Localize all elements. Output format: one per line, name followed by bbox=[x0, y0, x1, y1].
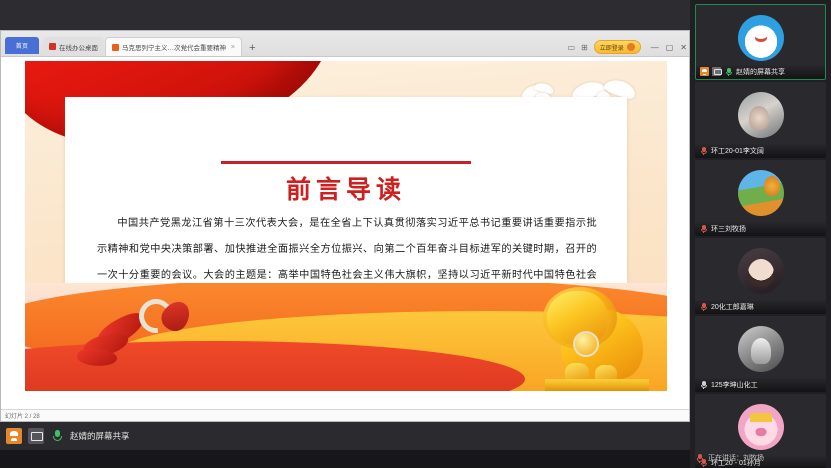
slide-page-indicator: 幻灯片 2 / 28 bbox=[5, 411, 40, 420]
host-icon bbox=[6, 428, 22, 444]
speaking-status-label: 正在讲话：刘牧扬 bbox=[708, 453, 764, 463]
participant-name: 赵婧的屏幕共享 bbox=[736, 67, 785, 77]
tab-close-icon[interactable]: × bbox=[231, 44, 235, 51]
browser-tab-0-label: 在线办公桌面 bbox=[59, 42, 98, 52]
avatar bbox=[738, 248, 784, 294]
page-title: 前言导读 bbox=[25, 170, 667, 206]
microphone-muted-icon bbox=[695, 454, 704, 463]
avatar bbox=[738, 326, 784, 372]
minimize-button[interactable]: — bbox=[651, 43, 659, 52]
screen-share-icon bbox=[712, 67, 721, 76]
speaking-status: 正在讲话：刘牧扬 bbox=[695, 450, 826, 466]
avatar bbox=[738, 15, 784, 61]
participant-tile-footer: 20化工郎嘉琳 bbox=[695, 299, 826, 314]
participant-tile-footer: 125李坤山化工 bbox=[695, 377, 826, 392]
participant-tile[interactable]: 20化工郎嘉琳 bbox=[695, 238, 826, 314]
shared-browser-window: 首页 在线办公桌面 马克思列宁主义…次党代会重要精神 × + ▭ ⊞ 立即登录 bbox=[0, 30, 690, 422]
reading-mode-icon[interactable]: ▭ bbox=[567, 43, 575, 52]
participant-tile-footer: 环工20-01李文阔 bbox=[695, 143, 826, 158]
orange-doc-favicon-icon bbox=[112, 44, 119, 51]
login-button-label: 立即登录 bbox=[600, 43, 624, 52]
participant-rail: 赵婧的屏幕共享 环工20-01李文阔 环三刘牧扬 bbox=[690, 0, 831, 468]
participant-tile[interactable]: 125李坤山化工 bbox=[695, 316, 826, 392]
slide-stage: 前言导读 中国共产党黑龙江省第十三次代表大会，是在全省上下认真贯彻落实习近平总书… bbox=[1, 57, 689, 411]
presentation-slide: 前言导读 中国共产党黑龙江省第十三次代表大会，是在全省上下认真贯彻落实习近平总书… bbox=[25, 61, 667, 391]
slide-status-bar: 幻灯片 2 / 28 bbox=[1, 409, 689, 421]
avatar bbox=[738, 404, 784, 450]
login-button[interactable]: 立即登录 bbox=[594, 40, 641, 54]
home-button-label: 首页 bbox=[16, 41, 28, 50]
browser-toolbar-right: ▭ ⊞ 立即登录 — ▢ ✕ bbox=[567, 40, 687, 54]
participant-tile[interactable]: 环三刘牧扬 bbox=[695, 160, 826, 236]
participant-name: 环工20-01李文阔 bbox=[711, 146, 764, 156]
screen-share-bar: 赵婧的屏幕共享 bbox=[0, 422, 690, 450]
microphone-muted-icon bbox=[699, 302, 708, 311]
microphone-muted-icon bbox=[699, 224, 708, 233]
new-tab-button[interactable]: + bbox=[243, 43, 261, 56]
screen-share-label: 赵婧的屏幕共享 bbox=[70, 430, 130, 442]
browser-tab-bar: 首页 在线办公桌面 马克思列宁主义…次党代会重要精神 × + ▭ ⊞ 立即登录 bbox=[1, 31, 689, 57]
close-button[interactable]: ✕ bbox=[680, 43, 687, 52]
avatar bbox=[738, 170, 784, 216]
home-button[interactable]: 首页 bbox=[5, 37, 39, 54]
browser-tab-0[interactable]: 在线办公桌面 bbox=[43, 37, 104, 56]
browser-tab-1-label: 马克思列宁主义…次党代会重要精神 bbox=[122, 42, 226, 52]
participant-tile-footer: 环三刘牧扬 bbox=[695, 221, 826, 236]
grid-icon[interactable]: ⊞ bbox=[581, 43, 588, 52]
microphone-icon bbox=[699, 380, 708, 389]
microphone-muted-icon bbox=[699, 146, 708, 155]
microphone-icon bbox=[724, 67, 733, 76]
red-doc-favicon-icon bbox=[49, 43, 56, 50]
participant-tile[interactable]: 环工20-01李文阔 bbox=[695, 82, 826, 158]
screen-share-icon[interactable] bbox=[28, 428, 44, 444]
maximize-button[interactable]: ▢ bbox=[666, 43, 674, 52]
browser-tab-1[interactable]: 马克思列宁主义…次党代会重要精神 × bbox=[105, 37, 242, 56]
participant-name: 20化工郎嘉琳 bbox=[711, 302, 754, 312]
participant-tile-footer: 赵婧的屏幕共享 bbox=[696, 64, 825, 79]
avatar bbox=[627, 43, 635, 51]
slide-title-block: 前言导读 bbox=[25, 161, 667, 206]
participant-tile[interactable]: 赵婧的屏幕共享 bbox=[695, 4, 826, 80]
participant-name: 125李坤山化工 bbox=[711, 380, 758, 390]
guardian-lion-graphic bbox=[539, 283, 651, 391]
slide-decoration-band bbox=[25, 283, 667, 391]
window-controls: — ▢ ✕ bbox=[651, 43, 687, 52]
trumpet-graphic bbox=[77, 295, 197, 371]
screen-root: 首页 在线办公桌面 马克思列宁主义…次党代会重要精神 × + ▭ ⊞ 立即登录 bbox=[0, 0, 831, 468]
participant-name: 环三刘牧扬 bbox=[711, 224, 746, 234]
title-divider bbox=[221, 161, 471, 164]
avatar bbox=[738, 92, 784, 138]
host-icon bbox=[700, 67, 709, 76]
microphone-icon[interactable] bbox=[50, 428, 64, 444]
